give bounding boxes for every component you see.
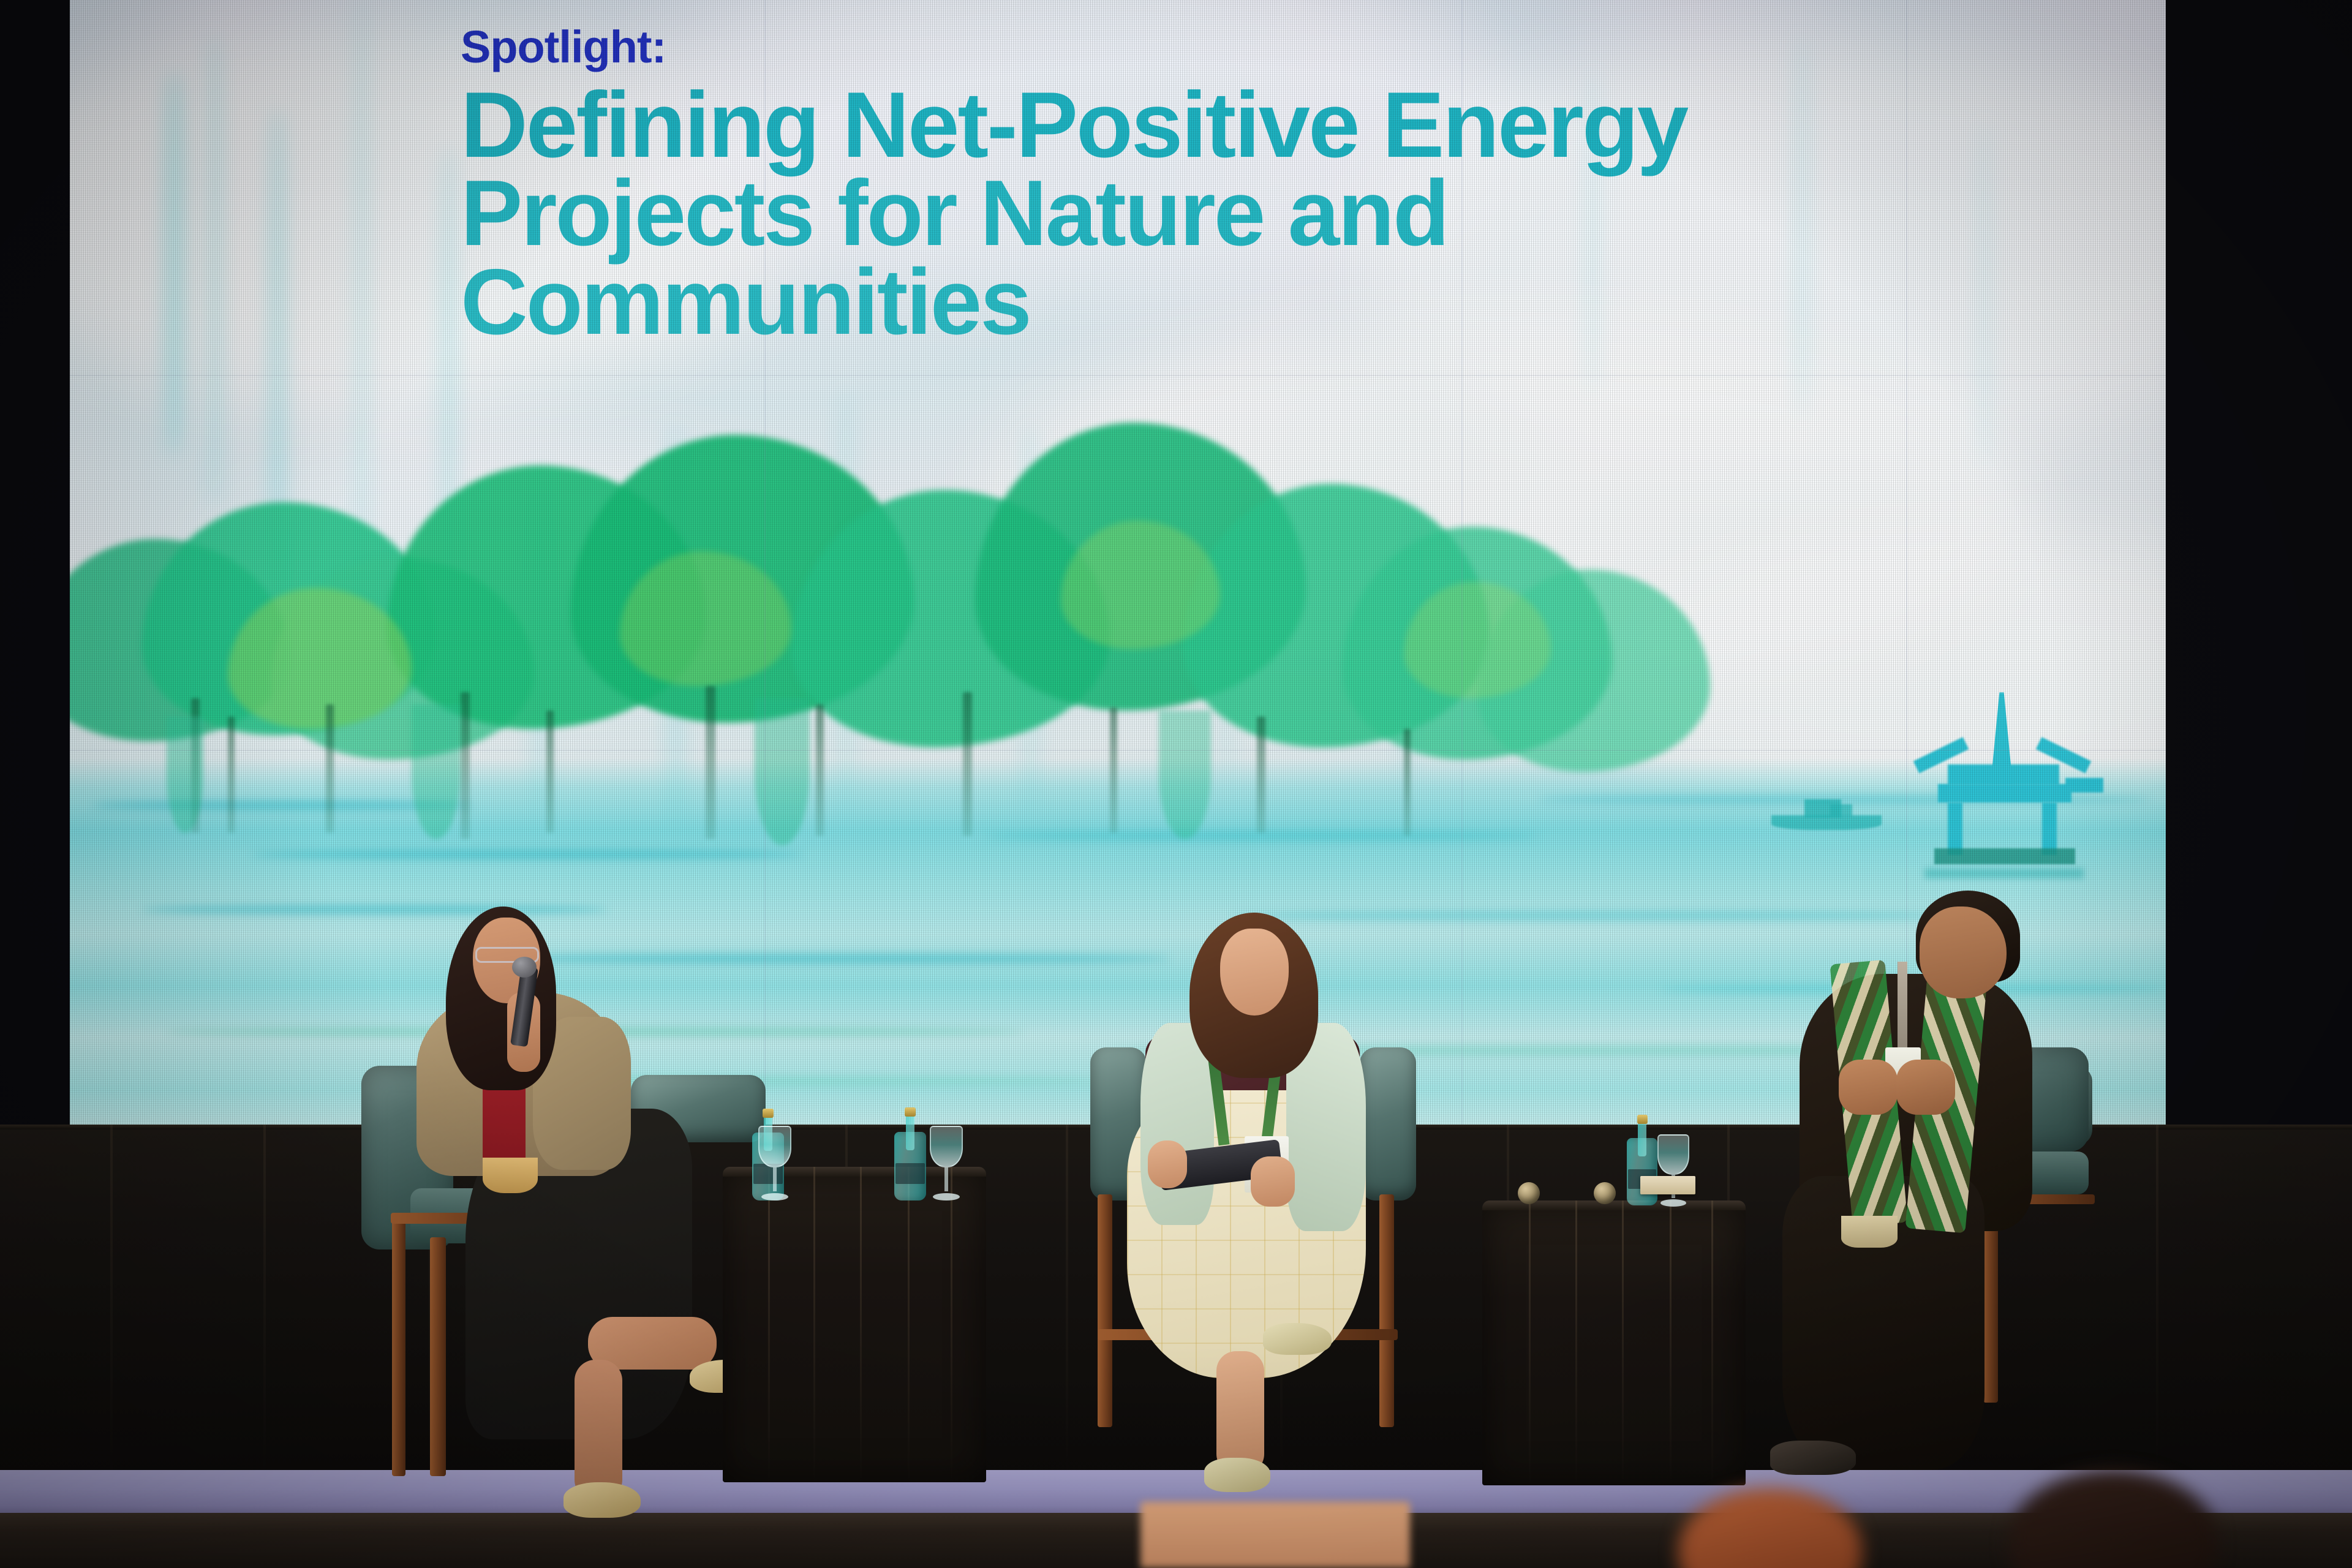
chair-center-frame-right: [1379, 1194, 1394, 1427]
panelist-right-face: [1920, 907, 2007, 998]
slide-text-block: Spotlight: Defining Net-Positive Energy …: [461, 24, 2166, 346]
cocktail-table-left: [723, 1167, 986, 1482]
panelist-right: [1789, 882, 2168, 1507]
panelist-center-shoe-lower: [1204, 1458, 1270, 1492]
panelist-left: [343, 894, 784, 1519]
slide-title-line-3: Communities: [461, 258, 2166, 346]
wine-glass-left-1: [758, 1126, 791, 1200]
slide-title-line-2: Projects for Nature and: [461, 169, 2166, 257]
wine-glass-right: [1657, 1134, 1689, 1207]
chair-center-frame-left: [1098, 1194, 1112, 1427]
chair-left-frame-front: [430, 1237, 446, 1476]
panelist-left-scarf-fringe: [483, 1158, 538, 1193]
panelist-center-face: [1220, 929, 1289, 1016]
stage-right-dark-wall: [2166, 0, 2352, 1213]
panelist-right-shoe: [1770, 1441, 1856, 1475]
boat-icon: [1771, 799, 1882, 831]
panelist-left-shoe-lower: [563, 1482, 641, 1518]
foreground-sign: [1140, 1502, 1410, 1568]
mangrove-forest-illustration: [69, 429, 1569, 894]
conference-stage-photo: Spotlight: Defining Net-Positive Energy …: [0, 0, 2352, 1568]
microphone-table-2: [1594, 1182, 1616, 1204]
panelist-center: [1084, 907, 1464, 1519]
panelist-right-scarf-fringe: [1841, 1216, 1898, 1248]
microphone-head: [512, 957, 537, 978]
wine-glass-left-2: [930, 1126, 963, 1200]
chair-left-frame-rail: [392, 1213, 405, 1476]
cocktail-table-right: [1482, 1200, 1746, 1485]
panelist-left-leg-lower: [575, 1360, 622, 1501]
panelist-right-hand-left: [1839, 1060, 1898, 1115]
microphone-table-1: [1518, 1182, 1540, 1204]
stage-left-dark-wall: [0, 0, 70, 1213]
panelist-center-hand-left: [1148, 1140, 1187, 1188]
table-name-card: [1640, 1176, 1695, 1194]
offshore-oil-platform-icon: [1882, 692, 2139, 900]
panelist-center-leg: [1216, 1351, 1264, 1474]
panelist-center-shoe-upper: [1263, 1323, 1332, 1355]
water-bottle-left-2: [894, 1107, 926, 1200]
slide-title-line-1: Defining Net-Positive Energy: [461, 81, 2166, 169]
panelist-center-hand-right: [1251, 1156, 1295, 1207]
panelist-right-hand-right: [1896, 1060, 1955, 1115]
slide-eyebrow-label: Spotlight:: [461, 24, 2166, 70]
chair-center-arm-right: [1360, 1047, 1416, 1200]
